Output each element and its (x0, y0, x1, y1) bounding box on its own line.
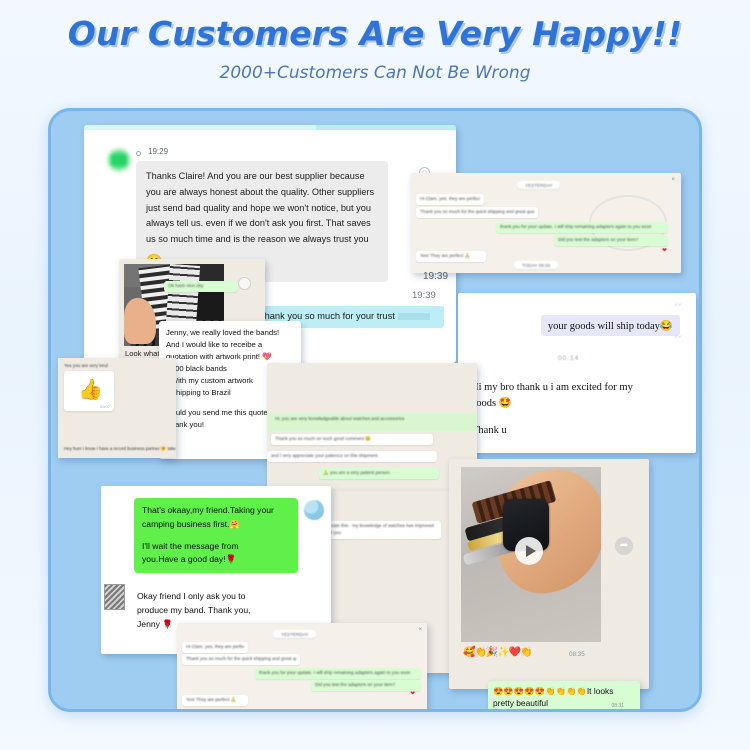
message-bubble: Thank you so much for the quick shipping… (182, 654, 300, 665)
thumbs-up-icon: 👍 (78, 377, 103, 402)
close-icon[interactable]: × (671, 177, 675, 183)
read-receipt-icon: ✓✓ (674, 334, 682, 340)
message-timestamp: 08:35 (569, 651, 585, 658)
chat-card-goods-shipping[interactable]: ✓✓ your goods will ship today😂 ✓✓ 00:14 … (458, 293, 696, 453)
love-emojis: 😍😍😍😍😍👏👏👏👏 (493, 686, 587, 696)
close-icon[interactable]: × (418, 627, 422, 633)
reply-timestamp: 19:39 (412, 290, 436, 301)
message-bubble-outgoing: thank you for your update. I will ship r… (496, 222, 668, 233)
chat-card-thumbs-up[interactable]: Yes you are very kind 👍 20:07 Hey hun! I… (58, 358, 176, 458)
bands-line-3: quotation with artwork print! 💖 (166, 351, 296, 363)
screenshot-collage: 19:29 ☺ Thanks Claire! And you are our b… (51, 111, 699, 709)
timestamp-19-39: 19:39 (423, 271, 448, 282)
looks-line-2: pretty beautiful (493, 697, 613, 709)
date-pill: YESTERDAY (517, 181, 560, 189)
avatar (106, 147, 132, 173)
message-bubble: Thank you so much on such good comment 😊 (271, 434, 433, 445)
message-timestamp: 19:29 (148, 147, 168, 156)
date-pill: YESTERDAY (273, 630, 316, 638)
message-bubble-ok-nice-day: Ok have nice day (164, 281, 238, 292)
message-bubble-outgoing: Did you test the adapters on your item? (554, 235, 668, 246)
reply-line-3: Jenny (137, 619, 160, 629)
clock-icon (136, 151, 141, 156)
forward-icon[interactable]: ➦ (615, 537, 633, 555)
reaction-emojis: 🥰👏🎉✨❤️👏 (463, 647, 532, 658)
message-bubble: Thank you so much for the quick shipping… (416, 207, 538, 218)
bands-line-2: And I would like to receibe a (166, 339, 296, 351)
sticker-bubble: 👍 20:07 (64, 371, 114, 411)
message-timestamp: 08:31 (611, 703, 624, 709)
message-bubble-outgoing: thank you for your update. I will ship r… (255, 668, 421, 679)
chat-bubble-looks-beautiful: 😍😍😍😍😍👏👏👏👏It looks pretty beautiful 08:31 (488, 681, 640, 711)
scroll-down-button[interactable]: ⌄ (648, 709, 666, 712)
message-text: Thanks Claire! And you are our best supp… (146, 171, 374, 244)
camping-line-2: camping business first. (142, 519, 229, 529)
page-subtitle: 2000+Customers Can Not Be Wrong (0, 63, 750, 83)
chat-card-watches-thread[interactable]: Hi, you are very knowledgeable about wat… (267, 363, 477, 497)
camping-line-3: I'll wait the message from (142, 540, 290, 554)
reply-line-1: Okay friend I only ask you to (137, 590, 276, 604)
chat-card-watch-video[interactable]: ➦ 🥰👏🎉✨❤️👏 08:35 (449, 459, 649, 689)
message-bubble-ship-today: your goods will ship today😂 (541, 315, 680, 336)
message-bubble-outgoing: 🙏 you are a very patient person. (319, 468, 439, 479)
chat-header-bar (84, 125, 456, 130)
rose-emoji: 🌹 (226, 554, 237, 564)
bro-line-1: Hi my bro thank u i am excited for my (471, 382, 633, 393)
footer-message: Hey hun! I know I have a record business… (64, 446, 176, 452)
globe-sticker (304, 500, 324, 520)
printed-sheet (166, 264, 200, 326)
chat-card-adapters-bottom[interactable]: × YESTERDAY Hi Clare, yes, they are perf… (177, 623, 427, 711)
message-bubble: Yes! They are perfect 🙏 (416, 251, 486, 262)
play-icon[interactable] (515, 537, 543, 565)
date-pill: TODAY 09:33 (514, 261, 558, 269)
page-header: Our Customers Are Very Happy!! 2000+Cust… (0, 0, 750, 83)
looks-text: 😍😍😍😍😍👏👏👏👏It looks pretty beautiful (493, 685, 613, 709)
divider-timestamp: 00:14 (558, 355, 579, 362)
page-title: Our Customers Are Very Happy!! (0, 14, 750, 53)
looks-line-1: It looks (587, 686, 614, 696)
camping-line-4: you.Have a good day! (142, 554, 226, 564)
rose-emoji: 🌹 (162, 619, 173, 629)
ship-text: your goods will ship today (548, 321, 660, 332)
hug-emoji: 🤗 (229, 519, 240, 529)
message-bubble-outgoing: Did you test the adapters on your item? (311, 680, 421, 691)
chat-card-adapters-top[interactable]: × YESTERDAY Hi Clare, yes, they are perf… (411, 173, 681, 273)
avatar-thumbnail (104, 584, 125, 610)
watches-line-0: Hi, you are very knowledgeable about wat… (275, 416, 465, 423)
message-bubble: Yes! They are perfect 🙏 (182, 695, 248, 706)
heart-reaction-icon: ❤ (410, 691, 415, 697)
message-text: thank you so much for your trust (262, 311, 395, 321)
message-bubble: Hi Clare, yes, they are perfect 😊 (416, 194, 484, 205)
message-bubble: Hi Clare, yes, they are perfect 😊 (182, 642, 248, 653)
message-bubble-camping: That's okaay,my friend.Taking your campi… (134, 498, 298, 573)
message-bubble: and I very appreciate your patience on t… (267, 451, 437, 462)
laughing-emoji: 😂 (660, 321, 673, 332)
reply-line-2: produce my band. Thank you, (137, 604, 276, 618)
message-bubble-excited: Hi my bro thank u i am excited for my go… (464, 375, 642, 417)
bands-line-1: Jenny, we really loved the bands! (166, 327, 296, 339)
read-receipt-icon: ✓✓ (674, 302, 682, 308)
testimonial-collage-panel: 19:29 ☺ Thanks Claire! And you are our b… (48, 108, 702, 712)
heart-reaction-icon: ❤ (662, 247, 667, 254)
message-timestamp: 20:07 (100, 404, 110, 409)
thumbs-label: Yes you are very kind (64, 363, 108, 370)
forward-icon[interactable] (238, 277, 251, 290)
camping-line-1: That's okaay,my friend.Taking your (142, 504, 290, 518)
heart-eyes-emoji: 🤩 (499, 398, 512, 409)
spacer (142, 532, 290, 540)
